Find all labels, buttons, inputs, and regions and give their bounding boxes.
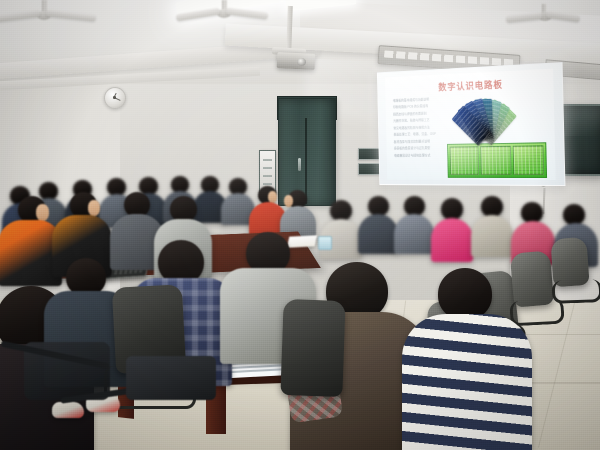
paper-cup xyxy=(318,236,332,250)
slide-bullet-list: 电路板的基本组成与功能说明 印制电路板 PCB 的分层结构 铜箔走线与焊盘的布置… xyxy=(393,97,443,160)
pcb-fan-photo xyxy=(450,91,543,140)
chair[interactable] xyxy=(280,299,345,397)
wall-clock xyxy=(104,87,126,109)
presentation-slide: 数字认识电路板 电路板的基本组成与功能说明 印制电路板 PCB 的分层结构 铜箔… xyxy=(385,69,556,180)
sneaker xyxy=(52,402,84,418)
striped-torso xyxy=(402,314,532,450)
chair-frame xyxy=(552,279,600,304)
projector-lens-icon xyxy=(297,58,306,66)
chair-base xyxy=(126,356,216,400)
paper-stack-rear xyxy=(287,235,318,248)
slide-bullet: 常见电路板的检测与维修方法 xyxy=(393,125,441,132)
slide-bullet: 电磁兼容设计与接地处理方式 xyxy=(394,153,442,159)
classroom-photo: 数字认识电路板 电路板的基本组成与功能说明 印制电路板 PCB 的分层结构 铜箔… xyxy=(0,0,600,450)
slide-bullet: 多层板的叠层设计与过孔类型 xyxy=(394,146,442,152)
door-handle[interactable] xyxy=(298,158,301,171)
ceiling-projector xyxy=(277,52,316,70)
slide-bullet: 板材选择与阻抗控制要点说明 xyxy=(394,139,442,145)
slide-bullet: 铜箔走线与焊盘的布置原则 xyxy=(393,111,441,118)
slide-bullet: 元器件封装、贴装与焊接工艺 xyxy=(393,118,441,125)
slide-bullet: 印制电路板 PCB 的分层结构 xyxy=(393,104,441,111)
light-tube xyxy=(384,50,514,66)
chair-frame xyxy=(509,299,564,327)
slide-bullet: 表面处理工艺：喷锡、沉金、OSP xyxy=(394,132,442,139)
green-board-photo xyxy=(447,142,547,178)
classroom-door[interactable] xyxy=(278,98,336,206)
projection-screen: 数字认识电路板 电路板的基本组成与功能说明 印制电路板 PCB 的分层结构 铜箔… xyxy=(377,62,566,186)
door-center-seam xyxy=(305,118,307,204)
